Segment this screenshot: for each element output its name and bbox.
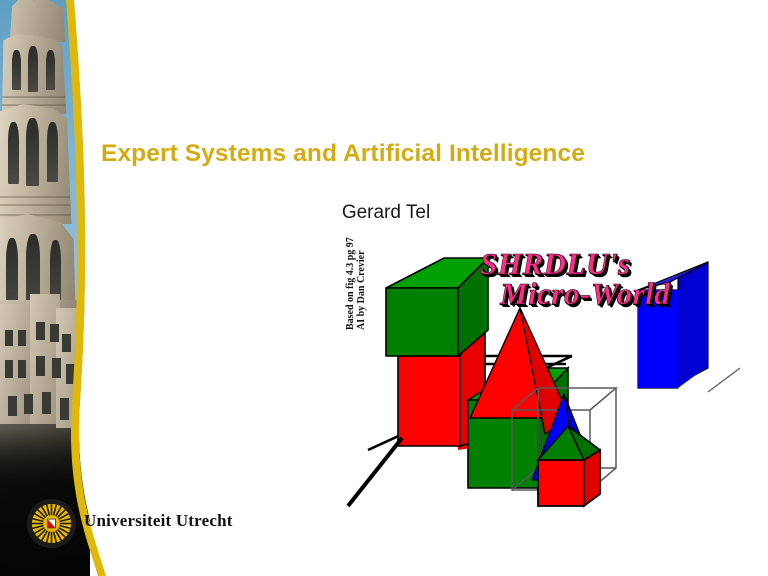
author-name: Gerard Tel: [101, 202, 671, 224]
page-title: Expert Systems and Artificial Intelligen…: [101, 140, 671, 168]
universiteit-utrecht-wordmark: Universiteit Utrecht: [84, 511, 233, 531]
presentation-slide: Expert Systems and Artificial Intelligen…: [0, 0, 768, 576]
shrdlu-blocks-world-figure: [340, 238, 740, 518]
credit-line-2: AI by Dan Crevier: [356, 180, 367, 330]
tower-belfry: [0, 104, 76, 224]
universiteit-utrecht-sun-logo: [27, 499, 76, 548]
credit-pointer-line: [348, 438, 402, 506]
figure-credit: Based on fig 4.3 pg 97 AI by Dan Crevier: [345, 180, 367, 330]
credit-line-1: Based on fig 4.3 pg 97: [345, 180, 356, 330]
